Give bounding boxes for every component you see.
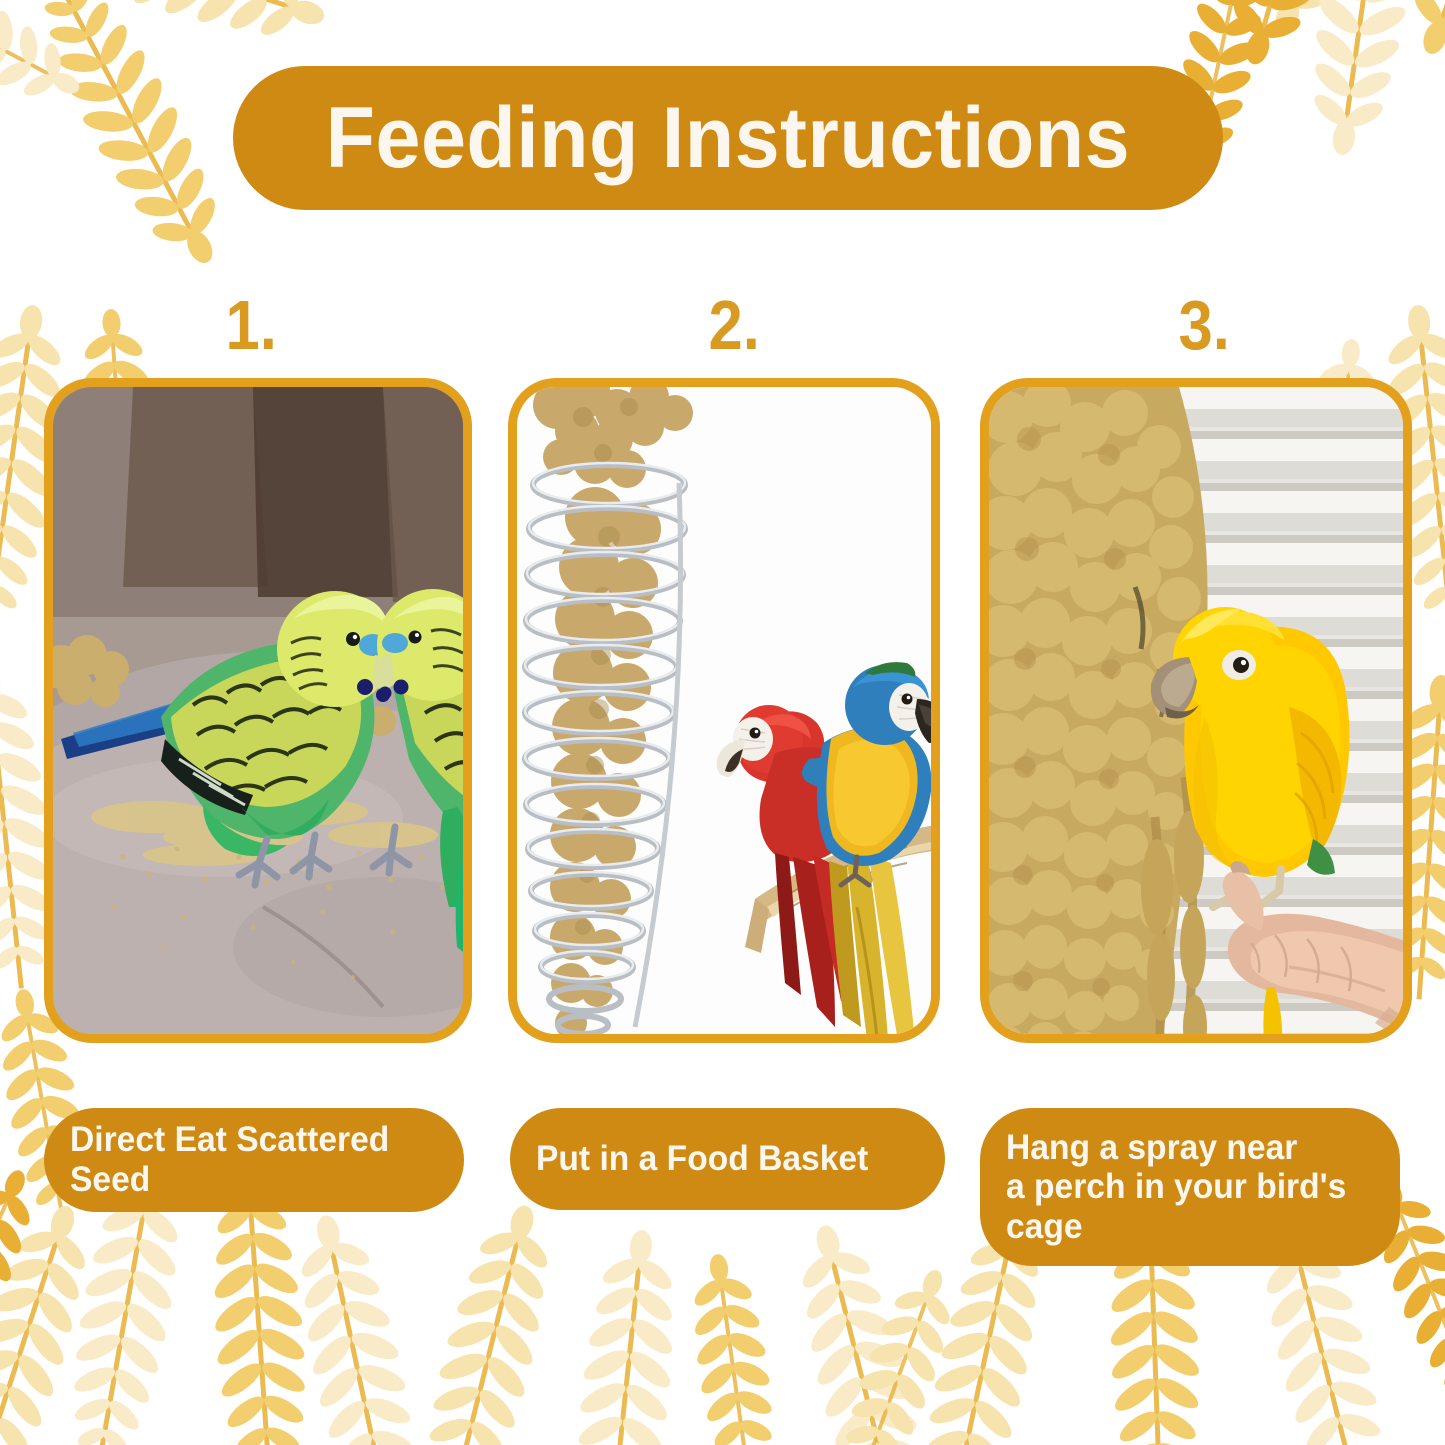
wheat-ear xyxy=(0,0,339,64)
step-1-caption: Direct Eat Scattered Seed xyxy=(70,1120,423,1199)
step-2-photo xyxy=(517,387,931,1034)
wheat-ear xyxy=(822,1257,974,1445)
step-3-photo-frame xyxy=(980,378,1412,1043)
wheat-ear xyxy=(1207,0,1389,77)
wheat-ear xyxy=(12,0,250,285)
wheat-ear xyxy=(0,0,97,124)
wheat-ear xyxy=(679,1249,788,1445)
step-3-number: 3. xyxy=(1179,290,1230,360)
wheat-ear xyxy=(0,1155,56,1397)
step-1-caption-pill: Direct Eat Scattered Seed xyxy=(44,1108,464,1212)
wheat-ear xyxy=(401,1194,573,1445)
page-title: Feeding Instructions xyxy=(326,95,1130,181)
infographic-root: Feeding Instructions 1. xyxy=(0,0,1445,1445)
step-2-caption: Put in a Food Basket xyxy=(536,1139,868,1179)
step-3-photo xyxy=(989,387,1403,1034)
page-title-banner: Feeding Instructions xyxy=(233,66,1223,210)
wheat-ear xyxy=(1384,0,1445,70)
step-2-caption-pill: Put in a Food Basket xyxy=(510,1108,945,1210)
step-1-number: 1. xyxy=(226,290,277,360)
wheat-ear xyxy=(561,1225,691,1445)
wheat-ear xyxy=(0,1191,114,1445)
step-2-number: 2. xyxy=(709,290,760,360)
step-3-caption-pill: Hang a spray near a perch in your bird's… xyxy=(980,1108,1400,1266)
wheat-ear xyxy=(200,1172,319,1445)
wheat-ear xyxy=(278,1206,440,1445)
wheat-ear xyxy=(1236,0,1438,50)
step-1-photo xyxy=(53,387,463,1034)
step-3-caption: Hang a spray near a perch in your bird's… xyxy=(1006,1128,1346,1247)
step-2-photo-frame xyxy=(508,378,940,1043)
step-1-photo-frame xyxy=(44,378,472,1043)
wheat-ear xyxy=(777,1214,949,1445)
wheat-ear xyxy=(1294,0,1435,161)
